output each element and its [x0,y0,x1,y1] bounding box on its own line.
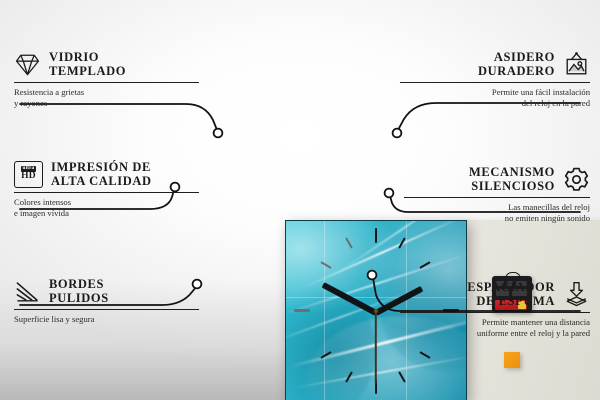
feature-desc-line1: Permite una fácil instalación [400,87,590,97]
ultra-hd-badge-large: HD [21,172,36,182]
connector-endpoint [214,129,223,138]
divider [14,309,199,310]
picture-hanger-icon [563,51,590,78]
feature-title-line2: TEMPLADO [49,64,126,78]
feature-title-line2: DE ESPUMA [467,294,555,308]
feature-desc-line1: Las manecillas del reloj [404,202,590,212]
feature-title-line1: ASIDERO [478,50,555,64]
feature-desc-line2: e imagen vívida [14,208,199,218]
diamond-icon [14,51,41,78]
feature-desc-line2: y rayones [14,98,199,108]
feature-bordes-pulidos: BORDES PULIDOS Superficie lisa y segura [14,277,199,325]
divider [14,192,199,193]
divider [400,82,590,83]
feature-title-line1: ESPACIADOR [467,280,555,294]
feature-vidrio-templado: VIDRIO TEMPLADO Resistencia a grietas y … [14,50,199,108]
divider [404,197,590,198]
feature-desc-line1: Permite mantener una distancia [400,317,590,327]
foam-spacer-icon [563,281,590,308]
feature-title-line2: DURADERO [478,64,555,78]
feature-impresion-alta-calidad: ultra HD IMPRESIÓN DE ALTA CALIDAD Color… [14,160,199,218]
feature-mecanismo-silencioso: MECANISMO SILENCIOSO Las manecillas del … [404,165,590,223]
feature-desc-line2: no emiten ningún sonido [404,213,590,223]
feature-title-line1: VIDRIO [49,50,126,64]
feature-desc-line1: Resistencia a grietas [14,87,199,97]
connector-endpoint [385,189,394,198]
feature-title-line1: BORDES [49,277,109,291]
divider [14,82,199,83]
polished-edges-icon [14,278,41,305]
feature-title-line2: PULIDOS [49,291,109,305]
connector-endpoint [393,129,402,138]
gear-icon [563,166,590,193]
feature-title-line1: IMPRESIÓN DE [51,160,152,174]
feature-desc-line2: uniforme entre el reloj y la pared [400,328,590,338]
feature-title-line1: MECANISMO [469,165,555,179]
ultra-hd-icon: ultra HD [14,161,43,188]
product-infographic: VIDRIO TEMPLADO Resistencia a grietas y … [0,0,600,400]
feature-desc-line2: del reloj en la pared [400,98,590,108]
feature-asidero-duradero: ASIDERO DURADERO Permite una fácil insta… [400,50,590,108]
feature-espaciador-espuma: ESPACIADOR DE ESPUMA Permite mantener un… [400,280,590,338]
connector-endpoint [368,271,377,280]
feature-desc-line1: Colores intensos [14,197,199,207]
divider [400,312,590,313]
feature-title-line2: ALTA CALIDAD [51,174,152,188]
feature-title-line2: SILENCIOSO [469,179,555,193]
feature-desc-line1: Superficie lisa y segura [14,314,199,324]
